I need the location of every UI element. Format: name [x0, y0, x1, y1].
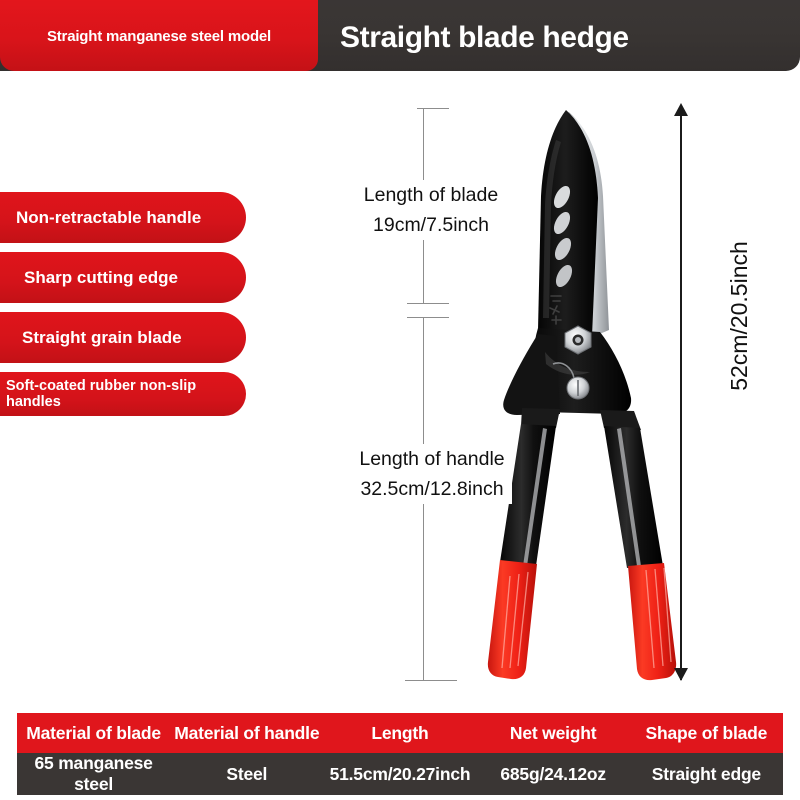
blade-dimension-label: Length of blade 19cm/7.5inch: [356, 180, 506, 240]
spec-table-row: 65 manganese steel Steel 51.5cm/20.27inc…: [17, 753, 783, 795]
spec-header-material-handle: Material of handle: [170, 713, 323, 753]
handle-dim-tick-top: [407, 317, 449, 318]
blade-dim-tick-bottom: [407, 303, 449, 304]
blade-dimension-value: 19cm/7.5inch: [356, 210, 506, 240]
handle-dimension-label: Length of handle 32.5cm/12.8inch: [352, 444, 512, 504]
handle-grip-right: [628, 563, 676, 680]
total-dim-arrow-bottom: [674, 668, 688, 681]
handle-shaft-right: [604, 426, 663, 568]
handle-dimension-name: Length of handle: [352, 444, 512, 474]
handle-dimension-value: 32.5cm/12.8inch: [352, 474, 512, 504]
total-dim-line: [680, 110, 682, 680]
spec-header-net-weight: Net weight: [477, 713, 630, 753]
spec-table: Material of blade Material of handle Len…: [17, 713, 783, 795]
shear-yoke-left-wing: [503, 334, 560, 415]
spec-header-shape-blade: Shape of blade: [630, 713, 783, 753]
spec-value-net-weight: 685g/24.12oz: [477, 753, 630, 795]
spec-header-material-blade: Material of blade: [17, 713, 170, 753]
blade-dim-tick-top: [417, 108, 449, 109]
spec-table-header-row: Material of blade Material of handle Len…: [17, 713, 783, 753]
total-dimension-value: 52cm/20.5inch: [726, 206, 753, 426]
spec-value-shape-blade: Straight edge: [630, 753, 783, 795]
spec-value-material-handle: Steel: [170, 753, 323, 795]
handle-dim-tick-bottom: [405, 680, 457, 681]
spec-header-length: Length: [323, 713, 476, 753]
handle-grip-left: [488, 560, 537, 679]
blade-dimension-name: Length of blade: [356, 180, 506, 210]
spec-value-material-blade: 65 manganese steel: [17, 753, 170, 795]
product-infographic: Straight manganese steel model Straight …: [0, 0, 800, 800]
spec-value-length: 51.5cm/20.27inch: [323, 753, 476, 795]
